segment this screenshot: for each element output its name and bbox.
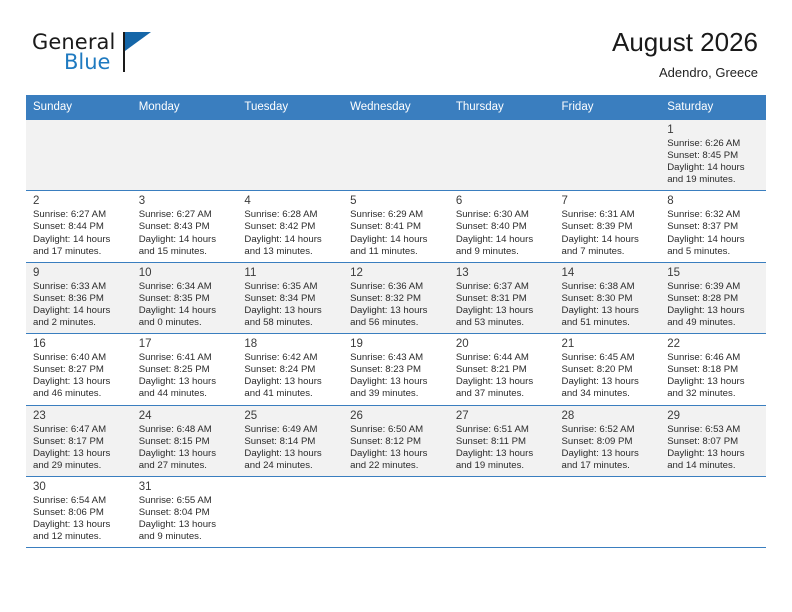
logo-flag-icon <box>125 32 151 51</box>
day-detail-line: Daylight: 13 hours <box>667 376 761 388</box>
day-detail-line: Daylight: 14 hours <box>667 162 761 174</box>
day-detail-line: Daylight: 14 hours <box>667 234 761 246</box>
day-cell-19[interactable]: 19Sunrise: 6:43 AMSunset: 8:23 PMDayligh… <box>343 334 449 405</box>
day-detail-line: and 17 minutes. <box>33 246 127 258</box>
day-detail-line: and 51 minutes. <box>562 317 656 329</box>
day-cell-empty <box>26 120 132 191</box>
day-detail-line: Sunset: 8:36 PM <box>33 293 127 305</box>
day-cell-content: 29Sunrise: 6:53 AMSunset: 8:07 PMDayligh… <box>660 406 766 476</box>
day-number: 7 <box>562 194 656 208</box>
day-cell-empty <box>555 476 661 547</box>
day-cell-content: 3Sunrise: 6:27 AMSunset: 8:43 PMDaylight… <box>132 191 238 261</box>
day-detail-line: Sunset: 8:20 PM <box>562 364 656 376</box>
day-detail-line: Sunset: 8:34 PM <box>244 293 338 305</box>
day-cell-content: 4Sunrise: 6:28 AMSunset: 8:42 PMDaylight… <box>237 191 343 261</box>
day-cell-content: 26Sunrise: 6:50 AMSunset: 8:12 PMDayligh… <box>343 406 449 476</box>
day-detail-line: and 53 minutes. <box>456 317 550 329</box>
day-detail-line: Sunset: 8:39 PM <box>562 221 656 233</box>
day-cell-content: 31Sunrise: 6:55 AMSunset: 8:04 PMDayligh… <box>132 477 238 547</box>
weekday-header-thursday: Thursday <box>449 95 555 120</box>
general-blue-logo[interactable]: General Blue <box>26 28 166 82</box>
day-cell-content: 27Sunrise: 6:51 AMSunset: 8:11 PMDayligh… <box>449 406 555 476</box>
day-detail-line: Sunset: 8:09 PM <box>562 436 656 448</box>
day-detail-line: and 58 minutes. <box>244 317 338 329</box>
weekday-header-sunday: Sunday <box>26 95 132 120</box>
day-detail-line: Sunrise: 6:37 AM <box>456 281 550 293</box>
day-detail-line: Sunrise: 6:51 AM <box>456 424 550 436</box>
day-detail-line: Sunrise: 6:46 AM <box>667 352 761 364</box>
day-detail-line: Sunrise: 6:48 AM <box>139 424 233 436</box>
day-cell-content: 13Sunrise: 6:37 AMSunset: 8:31 PMDayligh… <box>449 263 555 333</box>
day-detail-line: and 9 minutes. <box>139 531 233 543</box>
day-detail-line: Sunrise: 6:36 AM <box>350 281 444 293</box>
day-cell-content <box>237 477 343 540</box>
day-detail-line: and 41 minutes. <box>244 388 338 400</box>
day-cell-content: 1Sunrise: 6:26 AMSunset: 8:45 PMDaylight… <box>660 120 766 190</box>
day-detail-line: Daylight: 13 hours <box>33 376 127 388</box>
day-detail-line: and 29 minutes. <box>33 460 127 472</box>
day-cell-content: 30Sunrise: 6:54 AMSunset: 8:06 PMDayligh… <box>26 477 132 547</box>
day-detail-line: and 44 minutes. <box>139 388 233 400</box>
day-cell-content <box>343 120 449 183</box>
day-cell-content: 20Sunrise: 6:44 AMSunset: 8:21 PMDayligh… <box>449 334 555 404</box>
day-detail-line: and 39 minutes. <box>350 388 444 400</box>
day-detail-line: Sunset: 8:27 PM <box>33 364 127 376</box>
day-cell-content: 15Sunrise: 6:39 AMSunset: 8:28 PMDayligh… <box>660 263 766 333</box>
day-detail-line: Daylight: 14 hours <box>33 305 127 317</box>
day-detail-line: Daylight: 13 hours <box>562 448 656 460</box>
day-detail-line: Sunset: 8:06 PM <box>33 507 127 519</box>
day-detail-line: Sunrise: 6:52 AM <box>562 424 656 436</box>
day-detail-line: Sunset: 8:40 PM <box>456 221 550 233</box>
day-number: 13 <box>456 266 550 280</box>
day-cell-empty <box>237 120 343 191</box>
day-cell-27[interactable]: 27Sunrise: 6:51 AMSunset: 8:11 PMDayligh… <box>449 405 555 476</box>
day-detail-line: Sunrise: 6:26 AM <box>667 138 761 150</box>
day-cell-content <box>26 120 132 183</box>
day-detail-line: Sunrise: 6:33 AM <box>33 281 127 293</box>
day-detail-line: Daylight: 13 hours <box>33 519 127 531</box>
day-number: 17 <box>139 337 233 351</box>
day-detail-line: Sunset: 8:04 PM <box>139 507 233 519</box>
day-cell-29[interactable]: 29Sunrise: 6:53 AMSunset: 8:07 PMDayligh… <box>660 405 766 476</box>
day-detail-line: Sunrise: 6:27 AM <box>139 209 233 221</box>
day-cell-content: 16Sunrise: 6:40 AMSunset: 8:27 PMDayligh… <box>26 334 132 404</box>
day-detail-line: Sunset: 8:41 PM <box>350 221 444 233</box>
day-cell-empty <box>343 120 449 191</box>
day-cell-13[interactable]: 13Sunrise: 6:37 AMSunset: 8:31 PMDayligh… <box>449 262 555 333</box>
day-cell-content: 18Sunrise: 6:42 AMSunset: 8:24 PMDayligh… <box>237 334 343 404</box>
day-cell-25[interactable]: 25Sunrise: 6:49 AMSunset: 8:14 PMDayligh… <box>237 405 343 476</box>
day-cell-content: 24Sunrise: 6:48 AMSunset: 8:15 PMDayligh… <box>132 406 238 476</box>
day-cell-12[interactable]: 12Sunrise: 6:36 AMSunset: 8:32 PMDayligh… <box>343 262 449 333</box>
day-cell-6[interactable]: 6Sunrise: 6:30 AMSunset: 8:40 PMDaylight… <box>449 191 555 262</box>
day-detail-line: and 24 minutes. <box>244 460 338 472</box>
day-detail-line: Sunrise: 6:29 AM <box>350 209 444 221</box>
day-number: 6 <box>456 194 550 208</box>
day-cell-24[interactable]: 24Sunrise: 6:48 AMSunset: 8:15 PMDayligh… <box>132 405 238 476</box>
weekday-header-wednesday: Wednesday <box>343 95 449 120</box>
day-detail-line: Daylight: 14 hours <box>33 234 127 246</box>
calendar-week-row: 30Sunrise: 6:54 AMSunset: 8:06 PMDayligh… <box>26 476 766 547</box>
day-cell-content <box>132 120 238 183</box>
day-cell-4[interactable]: 4Sunrise: 6:28 AMSunset: 8:42 PMDaylight… <box>237 191 343 262</box>
weekday-header-monday: Monday <box>132 95 238 120</box>
day-detail-line: Daylight: 13 hours <box>667 305 761 317</box>
day-detail-line: Sunset: 8:28 PM <box>667 293 761 305</box>
day-number: 24 <box>139 409 233 423</box>
day-cell-content <box>449 477 555 540</box>
day-cell-content <box>237 120 343 183</box>
day-number: 2 <box>33 194 127 208</box>
day-number: 28 <box>562 409 656 423</box>
day-number: 31 <box>139 480 233 494</box>
calendar-body: 1Sunrise: 6:26 AMSunset: 8:45 PMDaylight… <box>26 120 766 548</box>
day-cell-26[interactable]: 26Sunrise: 6:50 AMSunset: 8:12 PMDayligh… <box>343 405 449 476</box>
day-cell-empty <box>555 120 661 191</box>
day-detail-line: Daylight: 13 hours <box>456 448 550 460</box>
day-detail-line: and 27 minutes. <box>139 460 233 472</box>
day-detail-line: Daylight: 13 hours <box>350 448 444 460</box>
day-cell-content <box>555 477 661 540</box>
weekday-header-tuesday: Tuesday <box>237 95 343 120</box>
day-detail-line: Daylight: 14 hours <box>139 305 233 317</box>
day-detail-line: Sunset: 8:43 PM <box>139 221 233 233</box>
day-number: 8 <box>667 194 761 208</box>
day-detail-line: and 17 minutes. <box>562 460 656 472</box>
day-detail-line: Sunset: 8:35 PM <box>139 293 233 305</box>
day-cell-content: 11Sunrise: 6:35 AMSunset: 8:34 PMDayligh… <box>237 263 343 333</box>
day-detail-line: Daylight: 13 hours <box>139 376 233 388</box>
day-cell-empty <box>449 120 555 191</box>
day-cell-content: 22Sunrise: 6:46 AMSunset: 8:18 PMDayligh… <box>660 334 766 404</box>
day-cell-7[interactable]: 7Sunrise: 6:31 AMSunset: 8:39 PMDaylight… <box>555 191 661 262</box>
day-cell-content: 12Sunrise: 6:36 AMSunset: 8:32 PMDayligh… <box>343 263 449 333</box>
day-detail-line: Sunrise: 6:43 AM <box>350 352 444 364</box>
day-cell-30[interactable]: 30Sunrise: 6:54 AMSunset: 8:06 PMDayligh… <box>26 476 132 547</box>
day-detail-line: and 37 minutes. <box>456 388 550 400</box>
day-detail-line: Daylight: 13 hours <box>350 305 444 317</box>
day-detail-line: Sunset: 8:45 PM <box>667 150 761 162</box>
day-number: 23 <box>33 409 127 423</box>
day-cell-content: 9Sunrise: 6:33 AMSunset: 8:36 PMDaylight… <box>26 263 132 333</box>
day-number: 27 <box>456 409 550 423</box>
day-cell-content: 21Sunrise: 6:45 AMSunset: 8:20 PMDayligh… <box>555 334 661 404</box>
day-detail-line: Sunrise: 6:54 AM <box>33 495 127 507</box>
day-detail-line: Sunset: 8:15 PM <box>139 436 233 448</box>
logo-text-blue: Blue <box>64 50 110 74</box>
day-cell-empty <box>449 476 555 547</box>
day-detail-line: Daylight: 13 hours <box>667 448 761 460</box>
day-number: 12 <box>350 266 444 280</box>
day-detail-line: Sunrise: 6:40 AM <box>33 352 127 364</box>
day-number: 30 <box>33 480 127 494</box>
day-detail-line: Sunset: 8:21 PM <box>456 364 550 376</box>
day-cell-content: 2Sunrise: 6:27 AMSunset: 8:44 PMDaylight… <box>26 191 132 261</box>
day-cell-content: 10Sunrise: 6:34 AMSunset: 8:35 PMDayligh… <box>132 263 238 333</box>
day-cell-content: 14Sunrise: 6:38 AMSunset: 8:30 PMDayligh… <box>555 263 661 333</box>
day-detail-line: Sunset: 8:18 PM <box>667 364 761 376</box>
day-cell-content: 8Sunrise: 6:32 AMSunset: 8:37 PMDaylight… <box>660 191 766 261</box>
page-title: August 2026 <box>612 28 758 58</box>
calendar-week-row: 23Sunrise: 6:47 AMSunset: 8:17 PMDayligh… <box>26 405 766 476</box>
day-detail-line: and 14 minutes. <box>667 460 761 472</box>
day-cell-empty <box>343 476 449 547</box>
day-detail-line: Daylight: 13 hours <box>33 448 127 460</box>
day-cell-3[interactable]: 3Sunrise: 6:27 AMSunset: 8:43 PMDaylight… <box>132 191 238 262</box>
day-detail-line: and 7 minutes. <box>562 246 656 258</box>
day-detail-line: Sunrise: 6:53 AM <box>667 424 761 436</box>
day-detail-line: Sunset: 8:07 PM <box>667 436 761 448</box>
day-detail-line: Sunrise: 6:35 AM <box>244 281 338 293</box>
day-cell-21[interactable]: 21Sunrise: 6:45 AMSunset: 8:20 PMDayligh… <box>555 334 661 405</box>
day-cell-28[interactable]: 28Sunrise: 6:52 AMSunset: 8:09 PMDayligh… <box>555 405 661 476</box>
day-cell-17[interactable]: 17Sunrise: 6:41 AMSunset: 8:25 PMDayligh… <box>132 334 238 405</box>
page-header: General Blue August 2026 Adendro, Greece <box>0 0 792 82</box>
day-number: 14 <box>562 266 656 280</box>
day-cell-20[interactable]: 20Sunrise: 6:44 AMSunset: 8:21 PMDayligh… <box>449 334 555 405</box>
day-cell-content <box>555 120 661 183</box>
day-detail-line: Sunrise: 6:42 AM <box>244 352 338 364</box>
day-cell-content: 7Sunrise: 6:31 AMSunset: 8:39 PMDaylight… <box>555 191 661 261</box>
day-detail-line: Sunrise: 6:55 AM <box>139 495 233 507</box>
day-detail-line: Daylight: 14 hours <box>350 234 444 246</box>
day-cell-18[interactable]: 18Sunrise: 6:42 AMSunset: 8:24 PMDayligh… <box>237 334 343 405</box>
day-detail-line: and 32 minutes. <box>667 388 761 400</box>
day-cell-15[interactable]: 15Sunrise: 6:39 AMSunset: 8:28 PMDayligh… <box>660 262 766 333</box>
day-detail-line: and 2 minutes. <box>33 317 127 329</box>
day-cell-content: 19Sunrise: 6:43 AMSunset: 8:23 PMDayligh… <box>343 334 449 404</box>
day-detail-line: Daylight: 13 hours <box>456 376 550 388</box>
day-detail-line: and 9 minutes. <box>456 246 550 258</box>
day-number: 4 <box>244 194 338 208</box>
day-cell-5[interactable]: 5Sunrise: 6:29 AMSunset: 8:41 PMDaylight… <box>343 191 449 262</box>
calendar-header-row: SundayMondayTuesdayWednesdayThursdayFrid… <box>26 95 766 120</box>
day-cell-16[interactable]: 16Sunrise: 6:40 AMSunset: 8:27 PMDayligh… <box>26 334 132 405</box>
calendar-page: General Blue August 2026 Adendro, Greece… <box>0 0 792 612</box>
day-cell-9[interactable]: 9Sunrise: 6:33 AMSunset: 8:36 PMDaylight… <box>26 262 132 333</box>
day-cell-empty <box>132 120 238 191</box>
day-detail-line: Sunset: 8:24 PM <box>244 364 338 376</box>
day-cell-content: 25Sunrise: 6:49 AMSunset: 8:14 PMDayligh… <box>237 406 343 476</box>
day-cell-content: 17Sunrise: 6:41 AMSunset: 8:25 PMDayligh… <box>132 334 238 404</box>
day-cell-2[interactable]: 2Sunrise: 6:27 AMSunset: 8:44 PMDaylight… <box>26 191 132 262</box>
day-cell-8[interactable]: 8Sunrise: 6:32 AMSunset: 8:37 PMDaylight… <box>660 191 766 262</box>
day-number: 29 <box>667 409 761 423</box>
day-detail-line: Sunrise: 6:41 AM <box>139 352 233 364</box>
day-detail-line: and 11 minutes. <box>350 246 444 258</box>
day-detail-line: Sunrise: 6:31 AM <box>562 209 656 221</box>
weekday-header-friday: Friday <box>555 95 661 120</box>
day-cell-empty <box>237 476 343 547</box>
day-detail-line: Daylight: 13 hours <box>139 519 233 531</box>
day-cell-content <box>449 120 555 183</box>
day-detail-line: Daylight: 13 hours <box>562 376 656 388</box>
calendar-grid: SundayMondayTuesdayWednesdayThursdayFrid… <box>26 95 766 548</box>
day-detail-line: Sunset: 8:31 PM <box>456 293 550 305</box>
title-block: August 2026 Adendro, Greece <box>612 28 758 80</box>
day-detail-line: and 15 minutes. <box>139 246 233 258</box>
day-cell-10[interactable]: 10Sunrise: 6:34 AMSunset: 8:35 PMDayligh… <box>132 262 238 333</box>
day-detail-line: and 49 minutes. <box>667 317 761 329</box>
day-cell-content: 6Sunrise: 6:30 AMSunset: 8:40 PMDaylight… <box>449 191 555 261</box>
day-detail-line: Sunrise: 6:32 AM <box>667 209 761 221</box>
day-number: 10 <box>139 266 233 280</box>
day-detail-line: Sunrise: 6:45 AM <box>562 352 656 364</box>
day-detail-line: Daylight: 14 hours <box>244 234 338 246</box>
page-subtitle-location: Adendro, Greece <box>612 65 758 80</box>
day-detail-line: Sunset: 8:25 PM <box>139 364 233 376</box>
day-cell-14[interactable]: 14Sunrise: 6:38 AMSunset: 8:30 PMDayligh… <box>555 262 661 333</box>
day-number: 21 <box>562 337 656 351</box>
day-cell-22[interactable]: 22Sunrise: 6:46 AMSunset: 8:18 PMDayligh… <box>660 334 766 405</box>
day-cell-11[interactable]: 11Sunrise: 6:35 AMSunset: 8:34 PMDayligh… <box>237 262 343 333</box>
calendar-week-row: 1Sunrise: 6:26 AMSunset: 8:45 PMDaylight… <box>26 120 766 191</box>
day-detail-line: and 46 minutes. <box>33 388 127 400</box>
day-detail-line: Sunrise: 6:44 AM <box>456 352 550 364</box>
day-detail-line: Sunrise: 6:38 AM <box>562 281 656 293</box>
day-detail-line: Sunset: 8:32 PM <box>350 293 444 305</box>
day-detail-line: and 34 minutes. <box>562 388 656 400</box>
day-number: 20 <box>456 337 550 351</box>
weekday-header-saturday: Saturday <box>660 95 766 120</box>
day-cell-23[interactable]: 23Sunrise: 6:47 AMSunset: 8:17 PMDayligh… <box>26 405 132 476</box>
day-detail-line: Daylight: 14 hours <box>139 234 233 246</box>
day-detail-line: Sunset: 8:42 PM <box>244 221 338 233</box>
day-detail-line: Sunset: 8:44 PM <box>33 221 127 233</box>
calendar-week-row: 2Sunrise: 6:27 AMSunset: 8:44 PMDaylight… <box>26 191 766 262</box>
day-detail-line: and 12 minutes. <box>33 531 127 543</box>
day-cell-content <box>660 477 766 540</box>
day-cell-empty <box>660 476 766 547</box>
day-detail-line: Sunset: 8:37 PM <box>667 221 761 233</box>
calendar-week-row: 9Sunrise: 6:33 AMSunset: 8:36 PMDaylight… <box>26 262 766 333</box>
day-detail-line: Sunrise: 6:27 AM <box>33 209 127 221</box>
day-detail-line: Sunrise: 6:30 AM <box>456 209 550 221</box>
day-number: 16 <box>33 337 127 351</box>
day-detail-line: Sunrise: 6:49 AM <box>244 424 338 436</box>
day-cell-content <box>343 477 449 540</box>
day-detail-line: Sunset: 8:11 PM <box>456 436 550 448</box>
day-number: 18 <box>244 337 338 351</box>
day-detail-line: Daylight: 13 hours <box>350 376 444 388</box>
day-detail-line: Daylight: 13 hours <box>244 305 338 317</box>
day-number: 26 <box>350 409 444 423</box>
day-detail-line: Sunset: 8:30 PM <box>562 293 656 305</box>
day-cell-content: 28Sunrise: 6:52 AMSunset: 8:09 PMDayligh… <box>555 406 661 476</box>
day-detail-line: Daylight: 13 hours <box>562 305 656 317</box>
day-number: 22 <box>667 337 761 351</box>
day-cell-31[interactable]: 31Sunrise: 6:55 AMSunset: 8:04 PMDayligh… <box>132 476 238 547</box>
day-detail-line: and 19 minutes. <box>667 174 761 186</box>
day-detail-line: Daylight: 14 hours <box>562 234 656 246</box>
day-number: 5 <box>350 194 444 208</box>
day-number: 11 <box>244 266 338 280</box>
day-detail-line: and 56 minutes. <box>350 317 444 329</box>
day-detail-line: Sunset: 8:14 PM <box>244 436 338 448</box>
day-detail-line: and 13 minutes. <box>244 246 338 258</box>
day-detail-line: Sunset: 8:17 PM <box>33 436 127 448</box>
day-detail-line: Sunrise: 6:39 AM <box>667 281 761 293</box>
day-detail-line: Daylight: 13 hours <box>244 376 338 388</box>
day-detail-line: and 5 minutes. <box>667 246 761 258</box>
day-detail-line: Sunrise: 6:28 AM <box>244 209 338 221</box>
day-detail-line: and 22 minutes. <box>350 460 444 472</box>
day-detail-line: Sunset: 8:23 PM <box>350 364 444 376</box>
day-number: 3 <box>139 194 233 208</box>
day-detail-line: Daylight: 14 hours <box>456 234 550 246</box>
day-number: 9 <box>33 266 127 280</box>
day-cell-1[interactable]: 1Sunrise: 6:26 AMSunset: 8:45 PMDaylight… <box>660 120 766 191</box>
day-detail-line: Sunrise: 6:50 AM <box>350 424 444 436</box>
day-number: 25 <box>244 409 338 423</box>
day-detail-line: and 19 minutes. <box>456 460 550 472</box>
day-detail-line: Daylight: 13 hours <box>139 448 233 460</box>
day-detail-line: Daylight: 13 hours <box>244 448 338 460</box>
day-detail-line: and 0 minutes. <box>139 317 233 329</box>
day-detail-line: Sunrise: 6:34 AM <box>139 281 233 293</box>
day-cell-content: 23Sunrise: 6:47 AMSunset: 8:17 PMDayligh… <box>26 406 132 476</box>
day-number: 19 <box>350 337 444 351</box>
day-detail-line: Daylight: 13 hours <box>456 305 550 317</box>
day-number: 15 <box>667 266 761 280</box>
calendar-week-row: 16Sunrise: 6:40 AMSunset: 8:27 PMDayligh… <box>26 334 766 405</box>
day-detail-line: Sunset: 8:12 PM <box>350 436 444 448</box>
day-detail-line: Sunrise: 6:47 AM <box>33 424 127 436</box>
day-cell-content: 5Sunrise: 6:29 AMSunset: 8:41 PMDaylight… <box>343 191 449 261</box>
day-number: 1 <box>667 123 761 137</box>
